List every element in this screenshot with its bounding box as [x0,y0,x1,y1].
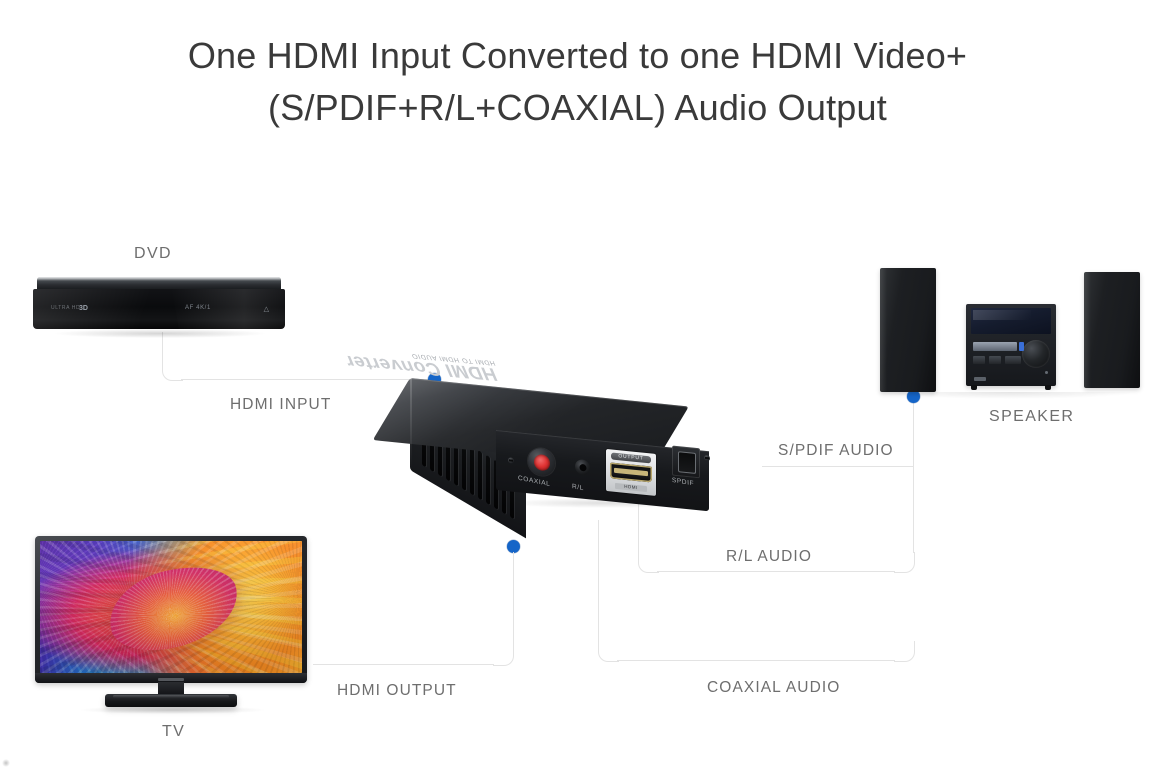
device-tv [35,536,307,711]
dvd-badge-brand: ULTRA HD [51,305,80,311]
port-spdif-shutter [683,456,689,469]
hifi-center-unit [966,304,1056,386]
diagram-canvas: One HDMI Input Converted to one HDMI Vid… [0,0,1155,769]
port-coaxial[interactable] [528,447,555,477]
dvd-badge-model: AF 4K/1 [185,305,211,311]
wire-rl-corner-left [638,552,659,573]
port-spdif-optical[interactable] [672,446,700,479]
device-speaker-system [880,268,1140,392]
hifi-button-strip [973,342,1017,351]
label-rl-audio: R/L AUDIO [726,548,812,566]
label-coaxial-audio: COAXIAL AUDIO [707,679,840,697]
port-label-coaxial: COAXIAL [518,475,550,488]
tv-bezel [35,536,307,683]
dvd-badge-3d: 3D [79,305,88,312]
converter-front-edge-highlight [410,377,412,470]
hifi-display [971,308,1051,334]
device-hdmi-converter: HDMI Converter HDMI TO HDMI AUDIO OUTPUT… [404,378,754,538]
wire-hdmi-output-corner [493,645,514,666]
wire-hdmi-input-horizontal [181,379,433,381]
dvd-eject-icon: △ [264,305,271,313]
hifi-button-1 [973,356,985,364]
wire-coax-horizontal [617,660,895,662]
wire-coax-corner-left [598,641,619,662]
label-hdmi-output: HDMI OUTPUT [337,682,457,700]
tv-brand-logo [158,678,184,681]
label-tv: TV [162,723,185,741]
wire-rl-horizontal [657,571,895,573]
dvd-drop-shadow [55,329,265,338]
label-dvd: DVD [134,245,172,263]
port-label-rl: R/L [572,483,584,492]
screw-right-icon [704,455,710,462]
wire-rl-corner-right [894,552,915,573]
hifi-ir-sensor [1045,371,1048,374]
hifi-status-led [1019,342,1024,351]
device-dvd-player: ULTRA HD 3D AF 4K/1 △ [33,277,285,332]
speaker-drop-shadow [880,392,1140,399]
port-rl-audio[interactable] [575,459,590,475]
hifi-brand-logo [974,377,986,381]
hifi-button-2 [989,356,1001,364]
port-hdmi-output[interactable]: OUTPUT HDMI [606,449,656,496]
wire-spdif-horizontal [762,466,914,468]
port-hdmi-output-label: OUTPUT [611,452,651,463]
label-hdmi-input: HDMI INPUT [230,396,331,414]
wire-hdmi-output-horizontal [313,664,494,666]
hifi-feet [966,385,1056,390]
port-label-spdif: SPDIF [672,477,694,488]
wire-hdmi-input-corner [162,360,183,381]
port-hdmi-caption: HDMI [615,483,647,492]
label-spdif-audio: S/PDIF AUDIO [778,442,894,460]
screw-left-icon [508,457,514,464]
port-hdmi-slot [610,462,652,482]
title-line-1: One HDMI Input Converted to one HDMI Vid… [188,35,967,76]
wire-speaker-riser [913,402,915,553]
hifi-button-3 [1005,356,1021,364]
title-line-2: (S/PDIF+R/L+COAXIAL) Audio Output [0,82,1155,134]
corner-artifact [2,759,10,767]
speaker-right [1084,272,1140,388]
speaker-left [880,268,936,392]
label-speaker: SPEAKER [989,408,1074,426]
wire-coax-corner-right [894,641,915,662]
tv-screen [40,541,302,673]
wire-coax-vertical [598,520,600,645]
tv-drop-shadow [80,706,265,714]
hifi-volume-knob [1022,340,1050,368]
tv-screen-veil [40,541,302,673]
page-title: One HDMI Input Converted to one HDMI Vid… [0,30,1155,134]
dvd-front-panel: ULTRA HD 3D AF 4K/1 △ [33,289,285,329]
wire-hdmi-output-vertical [513,552,515,652]
